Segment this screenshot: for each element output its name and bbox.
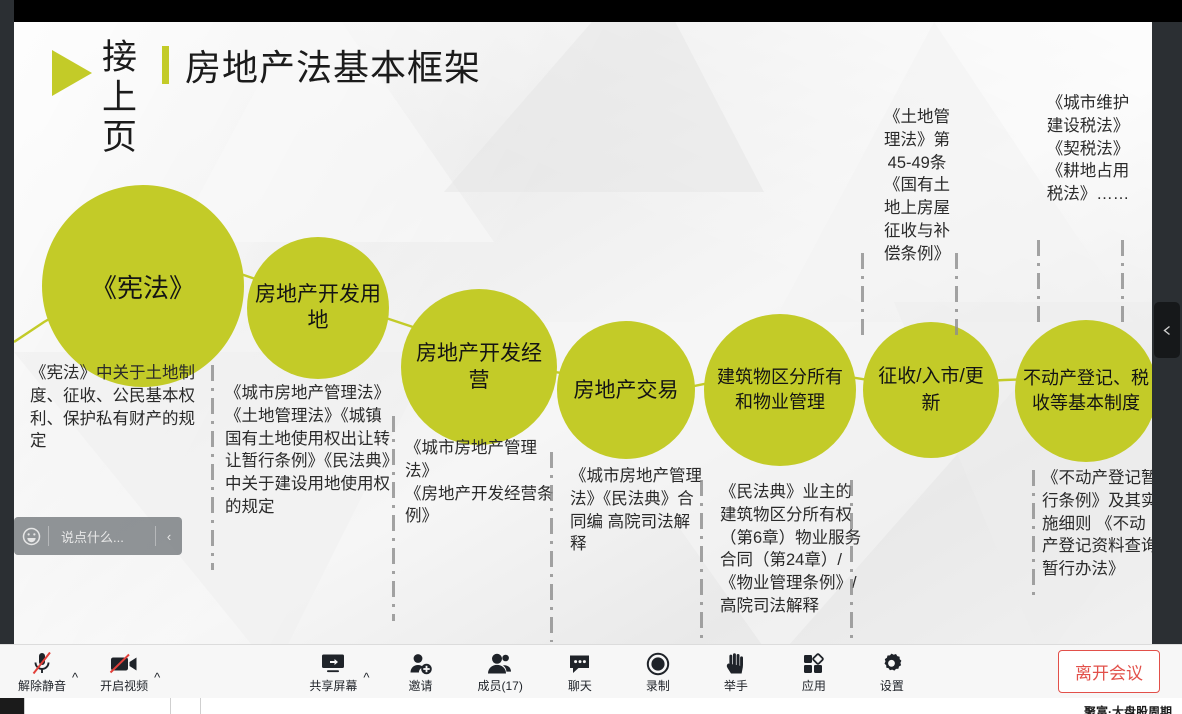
record-circle-icon — [645, 650, 671, 676]
node-label: 征收/入市/更新 — [863, 363, 999, 417]
toolbar-label: 举手 — [724, 679, 748, 693]
node-label: 《宪法》 — [83, 268, 203, 305]
column-divider — [700, 480, 703, 660]
toolbar-label: 邀请 — [409, 679, 433, 693]
toolbar-label: 录制 — [646, 679, 670, 693]
node-label: 房地产开发经营 — [401, 340, 557, 394]
column-divider — [861, 253, 864, 339]
share-options-caret[interactable]: ^ — [361, 671, 371, 698]
sliver-divider — [170, 698, 171, 714]
column-divider — [1121, 240, 1124, 326]
panel-collapse-button[interactable] — [1154, 302, 1180, 358]
chat-composer[interactable]: 说点什么... ‹ — [14, 517, 182, 555]
toolbar-item-members[interactable]: 成员(17) — [474, 645, 527, 699]
toolbar-item-video[interactable]: 开启视频 — [96, 645, 152, 699]
smiley-icon — [22, 527, 41, 546]
participants-icon — [486, 650, 514, 676]
sliver-text: 聚富·大盘股周期 — [1084, 703, 1172, 714]
background-window-sliver: 聚富·大盘股周期 — [0, 698, 1182, 714]
title-accent-bar — [162, 46, 169, 84]
toolbar-label: 设置 — [880, 679, 904, 693]
toolbar-label: 聊天 — [568, 679, 592, 693]
node-circle-2[interactable]: 房地产开发用地 — [247, 237, 389, 379]
column-divider — [850, 480, 853, 660]
toolbar-item-share-screen[interactable]: 共享屏幕 — [305, 645, 361, 699]
sliver-divider — [24, 698, 25, 714]
toolbar-item-apps[interactable]: 应用 — [791, 645, 837, 699]
description-block-6: 《土地管理法》第45-49条 《国有土地上房屋征收与补偿条例》 — [876, 106, 958, 265]
apps-grid-icon — [801, 650, 827, 676]
gear-icon — [879, 650, 904, 676]
audio-options-caret[interactable]: ^ — [70, 671, 80, 698]
column-divider — [1032, 470, 1035, 600]
description-block-4: 《城市房地产管理法》《民法典》合同编 高院司法解释 — [570, 465, 706, 556]
column-divider — [211, 365, 214, 570]
video-options-caret[interactable]: ^ — [152, 671, 162, 698]
description-block-5: 《民法典》业主的建筑物区分所有权（第6章）物业服务合同（第24章）/《物业管理条… — [720, 481, 862, 618]
camera-off-icon — [109, 650, 139, 676]
continuation-label: 接上页 — [102, 38, 146, 158]
toolbar-label: 解除静音 — [18, 679, 66, 693]
node-label: 房地产开发用地 — [247, 282, 389, 334]
toolbar-label: 开启视频 — [100, 679, 148, 693]
meeting-window: 接上页 房地产法基本框架 《宪法》 房地产开发用地 房地产开发经营 房地产交易 … — [0, 0, 1182, 714]
description-block-8: 《不动产登记暂行条例》及其实施细则 《不动产登记资料查询暂行办法》 — [1042, 467, 1152, 581]
node-circle-6[interactable]: 征收/入市/更新 — [863, 322, 999, 458]
emoji-button[interactable] — [14, 527, 48, 546]
shared-slide: 接上页 房地产法基本框架 《宪法》 房地产开发用地 房地产开发经营 房地产交易 … — [14, 22, 1152, 660]
node-label: 建筑物区分所有和物业管理 — [704, 365, 856, 415]
share-screen-icon — [319, 650, 347, 676]
toolbar-label: 共享屏幕 — [309, 679, 357, 693]
left-gutter — [0, 0, 14, 660]
toolbar-item-record[interactable]: 录制 — [635, 645, 681, 699]
sliver-block — [0, 698, 24, 714]
node-label: 房地产交易 — [566, 376, 687, 405]
node-circle-5[interactable]: 建筑物区分所有和物业管理 — [704, 314, 856, 466]
description-block-2: 《城市房地产管理法》《土地管理法》《城镇国有土地使用权出让转让暂行条例》《民法典… — [225, 382, 391, 519]
background-facet — [444, 22, 764, 192]
column-divider — [955, 253, 958, 339]
leave-meeting-button[interactable]: 离开会议 — [1058, 650, 1160, 693]
toolbar-label: 成员(17) — [478, 679, 523, 693]
chat-bubble-icon — [567, 650, 593, 676]
slide-title-row: 接上页 房地产法基本框架 — [40, 38, 481, 158]
node-circle-1[interactable]: 《宪法》 — [42, 185, 244, 387]
toolbar-item-raise-hand[interactable]: 举手 — [713, 645, 759, 699]
raise-hand-icon — [724, 650, 748, 676]
invite-person-icon — [408, 650, 434, 676]
chat-input[interactable]: 说点什么... — [49, 527, 155, 546]
toolbar-item-invite[interactable]: 邀请 — [398, 645, 444, 699]
meeting-toolbar: 解除静音 ^ 开启视频 ^ — [0, 644, 1182, 698]
toolbar-label: 应用 — [802, 679, 826, 693]
microphone-muted-icon — [30, 650, 54, 676]
chevron-left-icon — [1162, 325, 1173, 336]
composer-collapse-button[interactable]: ‹ — [156, 529, 182, 544]
toolbar-item-audio[interactable]: 解除静音 — [14, 645, 70, 699]
node-circle-7[interactable]: 不动产登记、税收等基本制度 — [1015, 320, 1152, 462]
page-title: 房地产法基本框架 — [185, 38, 481, 90]
description-block-7: 《城市维护建设税法》《契税法》《耕地占用税法》…… — [1044, 92, 1132, 206]
column-divider — [392, 416, 395, 621]
toolbar-item-chat[interactable]: 聊天 — [557, 645, 603, 699]
node-circle-3[interactable]: 房地产开发经营 — [401, 289, 557, 445]
column-divider — [1037, 240, 1040, 326]
toolbar-item-settings[interactable]: 设置 — [869, 645, 915, 699]
window-top-bar — [0, 0, 1182, 22]
description-block-3: 《城市房地产管理法》 《房地产开发经营条例》 — [405, 437, 555, 528]
node-label: 不动产登记、税收等基本制度 — [1015, 366, 1152, 416]
node-circle-4[interactable]: 房地产交易 — [557, 321, 695, 459]
description-block-1: 《宪法》中关于土地制度、征收、公民基本权利、保护私有财产的规定 — [30, 362, 206, 453]
sliver-divider — [200, 698, 201, 714]
play-triangle-icon — [52, 50, 92, 96]
column-divider — [550, 452, 553, 642]
